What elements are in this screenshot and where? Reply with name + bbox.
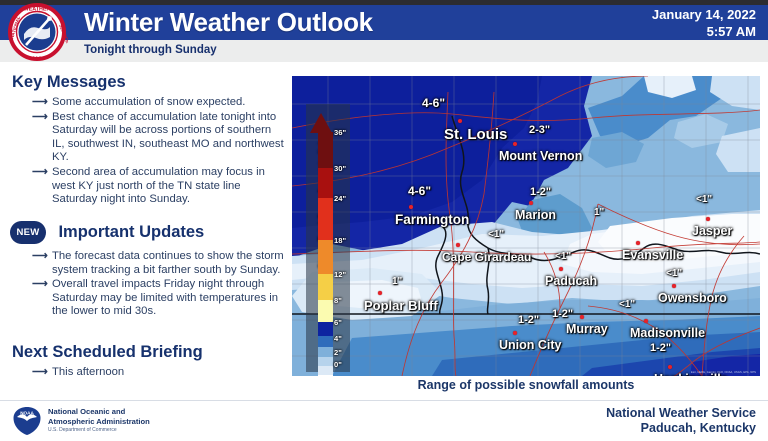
issuance-datetime: January 14, 2022 5:57 AM	[652, 7, 756, 40]
city-label: Madisonville	[630, 326, 705, 340]
noaa-seagull-logo: NOAA	[12, 406, 42, 436]
page-footer: NOAA National Oceanic and Atmospheric Ad…	[0, 400, 768, 441]
city-label: Owensboro	[658, 291, 727, 305]
svg-text:· · ·: · · ·	[33, 55, 41, 61]
city-marker-dot	[409, 205, 413, 209]
snow-amount-label: 4-6"	[408, 184, 431, 198]
snow-amount-label: 1-2"	[552, 308, 573, 320]
page-subtitle: Tonight through Sunday	[84, 41, 217, 60]
arrow-icon: ⟶	[32, 278, 48, 292]
colorbar-legend: Storm Total Snow Amounts (in) 36" 30" 24…	[298, 104, 360, 372]
nws-roundel-logo: WEATHER · · · NATIONAL SERVICE	[6, 3, 68, 61]
colorbar-gradient	[318, 132, 333, 357]
list-item-text: This afternoon	[52, 366, 124, 378]
city-marker-dot	[672, 284, 676, 288]
colorbar-segment	[318, 375, 333, 376]
colorbar-segment	[318, 347, 333, 357]
snow-amount-label: 1"	[392, 276, 402, 287]
next-briefing-list: ⟶This afternoon	[12, 366, 284, 381]
snow-amount-label: 1-2"	[650, 342, 671, 354]
colorbar-tick: 2"	[334, 348, 342, 357]
snow-amount-label: <1"	[696, 194, 712, 205]
arrow-icon: ⟶	[32, 111, 48, 125]
city-label: Poplar Bluff	[364, 298, 438, 313]
svg-text:WEATHER: WEATHER	[24, 7, 51, 13]
colorbar-segment	[318, 366, 333, 375]
left-content-panel: Key Messages ⟶Some accumulation of snow …	[0, 64, 288, 394]
key-messages-heading: Key Messages	[12, 72, 126, 92]
issuance-date: January 14, 2022	[652, 7, 756, 24]
nws-office-text: National Weather Service Paducah, Kentuc…	[606, 406, 756, 436]
colorbar-segment	[318, 198, 333, 240]
city-label: Paducah	[545, 274, 597, 288]
colorbar-segment	[318, 322, 333, 336]
office-line-2: Paducah, Kentucky	[606, 421, 756, 436]
list-item: ⟶Best chance of accumulation late tonigh…	[12, 111, 284, 165]
city-marker-dot	[580, 315, 584, 319]
city-marker-dot	[513, 142, 517, 146]
list-item-text: Some accumulation of snow expected.	[52, 96, 245, 108]
colorbar-tick: 8"	[334, 296, 342, 305]
next-briefing-heading: Next Scheduled Briefing	[12, 342, 203, 362]
svg-text:NOAA: NOAA	[20, 411, 34, 416]
snow-amount-label: 2-3"	[529, 124, 550, 136]
colorbar-tick: 4"	[334, 334, 342, 343]
city-label: St. Louis	[444, 126, 507, 143]
map-attribution: Esri, HERE, Garmin, FAO, NOAA, USGS, EPA…	[691, 371, 756, 374]
colorbar-tick: 36"	[334, 128, 346, 137]
city-label: Mount Vernon	[499, 149, 582, 163]
list-item-text: The forecast data continues to show the …	[52, 250, 284, 276]
noaa-agency-text: National Oceanic and Atmospheric Adminis…	[48, 407, 150, 434]
colorbar-segment	[318, 357, 333, 366]
city-label: Marion	[515, 208, 556, 222]
colorbar-segment	[318, 336, 333, 347]
colorbar-segment	[318, 274, 333, 300]
snow-amount-label: <1"	[619, 299, 635, 310]
snowfall-forecast-map[interactable]: Storm Total Snow Amounts (in) 36" 30" 24…	[292, 76, 760, 376]
list-item: ⟶Overall travel impacts Friday night thr…	[12, 278, 284, 319]
page-title: Winter Weather Outlook	[84, 6, 373, 38]
colorbar-segment	[318, 132, 333, 168]
list-item: ⟶Some accumulation of snow expected.	[12, 96, 284, 110]
snow-amount-label: 1-2"	[518, 314, 539, 326]
noaa-line-1: National Oceanic and	[48, 407, 150, 417]
colorbar-segment	[318, 168, 333, 198]
city-label: Union City	[499, 338, 562, 352]
city-marker-dot	[668, 365, 672, 369]
city-label: Evansville	[622, 248, 683, 262]
colorbar-segment	[318, 300, 333, 322]
colorbar-tick: 12"	[334, 270, 346, 279]
new-badge: NEW	[10, 221, 46, 244]
city-label: Farmington	[395, 212, 469, 227]
important-updates-heading: Important Updates	[58, 223, 204, 242]
list-item-text: Second area of accumulation may focus in…	[52, 166, 265, 205]
header-top-strip	[0, 0, 768, 5]
arrow-icon: ⟶	[32, 96, 48, 110]
key-messages-list: ⟶Some accumulation of snow expected. ⟶Be…	[12, 96, 284, 208]
snow-amount-label: <1"	[488, 229, 504, 240]
arrow-icon: ⟶	[32, 366, 48, 380]
city-marker-dot	[636, 241, 640, 245]
arrow-icon: ⟶	[32, 166, 48, 180]
city-marker-dot	[706, 217, 710, 221]
colorbar-tick: 24"	[334, 194, 346, 203]
city-marker-dot	[559, 267, 563, 271]
snow-amount-label: 4-6"	[422, 96, 445, 110]
city-marker-dot	[458, 119, 462, 123]
noaa-line-2: Atmospheric Administration	[48, 417, 150, 427]
page-header: WEATHER · · · NATIONAL SERVICE Winter We…	[0, 0, 768, 62]
city-label: Jasper	[692, 224, 732, 238]
colorbar-max-arrow	[310, 113, 332, 133]
list-item: ⟶This afternoon	[12, 366, 284, 380]
colorbar-tick: 18"	[334, 236, 346, 245]
city-marker-dot	[644, 319, 648, 323]
city-marker-dot	[456, 243, 460, 247]
city-marker-dot	[378, 291, 382, 295]
noaa-line-3: U.S. Department of Commerce	[48, 426, 150, 434]
colorbar-segment	[318, 240, 333, 274]
list-item-text: Overall travel impacts Friday night thro…	[52, 278, 278, 317]
city-marker-dot	[529, 201, 533, 205]
important-updates-header-row: NEW Important Updates	[10, 221, 204, 247]
snow-amount-label: <1"	[555, 251, 571, 262]
list-item: ⟶Second area of accumulation may focus i…	[12, 166, 284, 207]
snow-amount-label: <1"	[666, 268, 682, 279]
city-label: Murray	[566, 322, 608, 336]
snow-amount-label: 1"	[594, 207, 604, 218]
list-item: ⟶The forecast data continues to show the…	[12, 250, 284, 277]
title-block: Winter Weather Outlook	[84, 6, 373, 38]
office-line-1: National Weather Service	[606, 406, 756, 421]
colorbar-tick: 0"	[334, 360, 342, 369]
snow-amount-label: 1-2"	[530, 186, 551, 198]
arrow-icon: ⟶	[32, 250, 48, 264]
city-label: Cape Girardeau	[442, 250, 531, 264]
map-caption: Range of possible snowfall amounts	[292, 378, 760, 392]
city-marker-dot	[513, 331, 517, 335]
issuance-time: 5:57 AM	[652, 24, 756, 41]
colorbar-tick: 30"	[334, 164, 346, 173]
important-updates-list: ⟶The forecast data continues to show the…	[12, 250, 284, 320]
list-item-text: Best chance of accumulation late tonight…	[52, 111, 284, 164]
colorbar-tick: 6"	[334, 318, 342, 327]
